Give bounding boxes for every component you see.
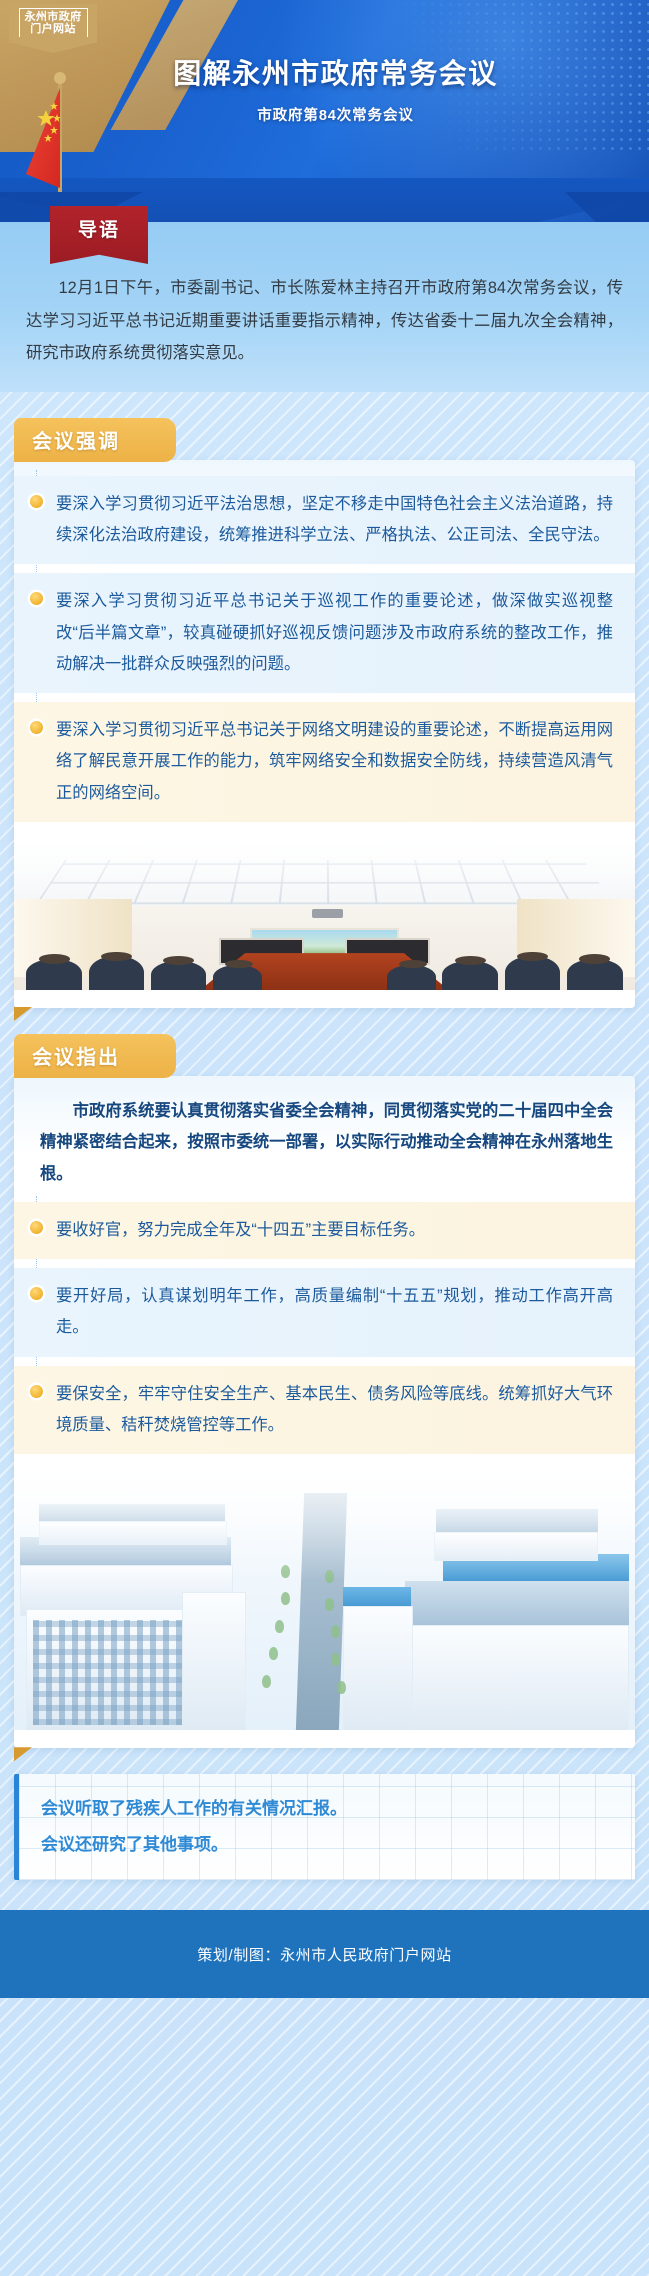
intro-label-wrap: 导语: [0, 222, 649, 272]
bullet-dot-icon: [30, 721, 43, 734]
section-lead-paragraph: 市政府系统要认真贯彻落实省委全会精神，同贯彻落实党的二十届四中全会精神紧密结合起…: [40, 1096, 613, 1190]
industrial-park-photo: [14, 1454, 635, 1730]
closing-section: 会议听取了残疾人工作的有关情况汇报。 会议还研究了其他事项。: [0, 1748, 649, 1880]
list-item: 要收好官，努力完成全年及“十四五”主要目标任务。: [14, 1202, 635, 1259]
meeting-room-photo: [14, 822, 635, 990]
site-logo-line2: 门户网站: [30, 23, 76, 35]
section-card-emphasis: 要深入学习贯彻习近平法治思想，坚定不移走中国特色社会主义法治道路，持续深化法治政…: [14, 460, 635, 1008]
intro-label-text: 导语: [78, 215, 120, 242]
list-item: 要保安全，牢牢守住安全生产、基本民生、债务风险等底线。统筹抓好大气环境质量、秸秆…: [14, 1366, 635, 1455]
intro-section: 导语 12月1日下午，市委副书记、市长陈爱林主持召开市政府第84次常务会议，传达…: [0, 222, 649, 392]
bullet-text: 要开好局，认真谋划明年工作，高质量编制“十五五”规划，推动工作高开高走。: [56, 1287, 613, 1336]
photo-projector: [312, 909, 343, 917]
intro-label-ribbon: 导语: [50, 206, 148, 264]
photo-attendees: [14, 946, 635, 990]
intro-paragraph: 12月1日下午，市委副书记、市长陈爱林主持召开市政府第84次常务会议，传达学习习…: [26, 272, 623, 370]
bullet-text: 要保安全，牢牢守住安全生产、基本民生、债务风险等底线。统筹抓好大气环境质量、秸秆…: [56, 1385, 613, 1434]
list-item: 要深入学习贯彻习近平总书记关于巡视工作的重要论述，做深做实巡视整改“后半篇文章”…: [14, 573, 635, 693]
bullet-text: 要深入学习贯彻习近平法治思想，坚定不移走中国特色社会主义法治道路，持续深化法治政…: [56, 495, 613, 544]
bullet-text: 要深入学习贯彻习近平总书记关于网络文明建设的重要论述，不断提高运用网络了解民意开…: [56, 721, 613, 802]
closing-box: 会议听取了残疾人工作的有关情况汇报。 会议还研究了其他事项。: [14, 1774, 635, 1880]
section-tab-points[interactable]: 会议指出: [14, 1034, 176, 1078]
section-tab-emphasis[interactable]: 会议强调: [14, 418, 176, 462]
bullet-dot-icon: [30, 1385, 43, 1398]
bullet-text: 要深入学习贯彻习近平总书记关于巡视工作的重要论述，做深做实巡视整改“后半篇文章”…: [56, 592, 613, 673]
site-logo-line1: 永州市政府: [25, 11, 82, 23]
page-footer: 策划/制图：永州市人民政府门户网站: [0, 1910, 649, 1998]
list-item: 要深入学习贯彻习近平法治思想，坚定不移走中国特色社会主义法治道路，持续深化法治政…: [14, 476, 635, 565]
photo-ceiling-grid: [36, 860, 614, 905]
site-logo-inner: 永州市政府 门户网站: [19, 8, 88, 37]
footer-credit: 策划/制图：永州市人民政府门户网站: [197, 1944, 451, 1965]
bullet-dot-icon: [30, 592, 43, 605]
list-item: 要开好局，认真谋划明年工作，高质量编制“十五五”规划，推动工作高开高走。: [14, 1268, 635, 1357]
bullet-text: 要收好官，努力完成全年及“十四五”主要目标任务。: [56, 1221, 425, 1239]
closing-line-2: 会议还研究了其他事项。: [41, 1830, 617, 1861]
bullet-list-emphasis: 要深入学习贯彻习近平法治思想，坚定不移走中国特色社会主义法治道路，持续深化法治政…: [14, 476, 635, 822]
header-title-block: 图解永州市政府常务会议 市政府第84次常务会议: [0, 52, 649, 125]
bullet-dot-icon: [30, 495, 43, 508]
bullet-list-points: 要收好官，努力完成全年及“十四五”主要目标任务。 要开好局，认真谋划明年工作，高…: [14, 1202, 635, 1454]
section-card-points: 市政府系统要认真贯彻落实省委全会精神，同贯彻落实党的二十届四中全会精神紧密结合起…: [14, 1076, 635, 1748]
bullet-dot-icon: [30, 1287, 43, 1300]
photo-road: [296, 1493, 348, 1730]
page-header: 永州市政府 门户网站 图解永州市政府常务会议: [0, 0, 649, 222]
section-meeting-points: 会议指出 市政府系统要认真贯彻落实省委全会精神，同贯彻落实党的二十届四中全会精神…: [14, 1008, 635, 1748]
page-subtitle: 市政府第84次常务会议: [22, 104, 649, 125]
bullet-dot-icon: [30, 1221, 43, 1234]
list-item: 要深入学习贯彻习近平总书记关于网络文明建设的重要论述，不断提高运用网络了解民意开…: [14, 702, 635, 822]
closing-line-1: 会议听取了残疾人工作的有关情况汇报。: [41, 1794, 617, 1825]
infographic-page: 永州市政府 门户网站 图解永州市政府常务会议: [0, 0, 649, 2276]
page-title: 图解永州市政府常务会议: [22, 52, 649, 92]
section-meeting-emphasis: 会议强调 要深入学习贯彻习近平法治思想，坚定不移走中国特色社会主义法治道路，持续…: [14, 392, 635, 1008]
